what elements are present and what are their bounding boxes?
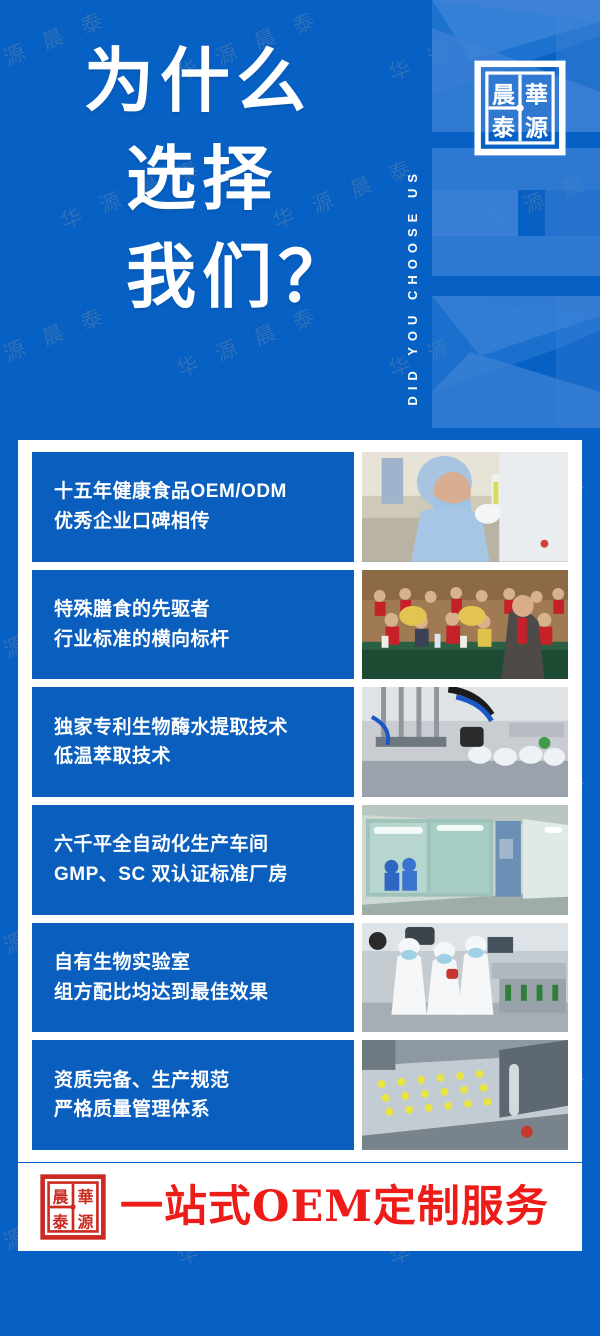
feature-line: 特殊膳食的先驱者 xyxy=(54,595,332,624)
feature-line: 资质完备、生产规范 xyxy=(54,1066,332,1095)
feature-card-6[interactable]: 资质完备、生产规范 严格质量管理体系 xyxy=(32,1040,354,1150)
features-list: 十五年健康食品OEM/ODM 优秀企业口碑相传 xyxy=(32,452,568,1150)
seal-char-3: 泰 xyxy=(491,115,516,142)
seal-stamp-icon: 晨 華 泰 源 xyxy=(40,1174,106,1240)
seal-char-3: 泰 xyxy=(52,1212,69,1231)
feature-line: 独家专利生物酶水提取技术 xyxy=(54,713,332,742)
feature-row: 特殊膳食的先驱者 行业标准的横向标杆 xyxy=(32,570,568,680)
feature-row: 自有生物实验室 组方配比均达到最佳效果 xyxy=(32,923,568,1033)
feature-line: 组方配比均达到最佳效果 xyxy=(54,978,332,1007)
title-line-3: 我们？ xyxy=(126,242,354,312)
feature-row: 资质完备、生产规范 严格质量管理体系 xyxy=(32,1040,568,1150)
title-line-2: 选择 xyxy=(126,144,354,214)
vertical-tagline-text: DID YOU CHOOSE US xyxy=(405,168,420,406)
photo-conference-audience xyxy=(362,570,568,680)
photo-lab-technician-testing xyxy=(362,452,568,562)
watermark-text: 华 源 晨 泰 xyxy=(596,594,600,679)
header-seal-icon: 晨 華 泰 源 xyxy=(474,58,566,158)
seal-char-2: 華 xyxy=(525,81,548,108)
feature-line: 自有生物实验室 xyxy=(54,948,332,977)
footer-slogan: 一站式OEM定制服务 xyxy=(120,1186,549,1229)
feature-row: 独家专利生物酶水提取技术 低温萃取技术 xyxy=(32,687,568,797)
seal-char-4: 源 xyxy=(525,115,548,142)
feature-card-2[interactable]: 特殊膳食的先驱者 行业标准的横向标杆 xyxy=(32,570,354,680)
feature-line: GMP、SC 双认证标准厂房 xyxy=(54,860,332,889)
footer-banner: 晨 華 泰 源 一站式OEM定制服务 xyxy=(18,1163,582,1251)
feature-card-5[interactable]: 自有生物实验室 组方配比均达到最佳效果 xyxy=(32,923,354,1033)
feature-card-4[interactable]: 六千平全自动化生产车间 GMP、SC 双认证标准厂房 xyxy=(32,805,354,915)
feature-line: 优秀企业口碑相传 xyxy=(54,507,332,536)
feature-line: 严格质量管理体系 xyxy=(54,1095,332,1124)
photo-staff-production-line xyxy=(362,923,568,1033)
features-panel: 十五年健康食品OEM/ODM 优秀企业口碑相传 xyxy=(18,440,582,1162)
title-line-1: 为什么 xyxy=(84,46,354,116)
seal-char-2: 華 xyxy=(78,1187,94,1206)
seal-char-1: 晨 xyxy=(53,1187,69,1206)
header: 为什么 选择 我们？ DID YOU CHOOSE US 晨 華 泰 源 xyxy=(0,0,600,440)
photo-cleanroom-corridor xyxy=(362,805,568,915)
photo-tablet-blister-packing xyxy=(362,1040,568,1150)
feature-card-3[interactable]: 独家专利生物酶水提取技术 低温萃取技术 xyxy=(32,687,354,797)
footer-seal-icon: 晨 華 泰 源 xyxy=(40,1174,106,1240)
seal-stamp-icon: 晨 華 泰 源 xyxy=(474,58,566,158)
page-title: 为什么 选择 我们？ xyxy=(84,46,354,312)
feature-row: 六千平全自动化生产车间 GMP、SC 双认证标准厂房 xyxy=(32,805,568,915)
feature-card-1[interactable]: 十五年健康食品OEM/ODM 优秀企业口碑相传 xyxy=(32,452,354,562)
feature-line: 行业标准的横向标杆 xyxy=(54,625,332,654)
feature-line: 低温萃取技术 xyxy=(54,742,332,771)
photo-filling-machinery xyxy=(362,687,568,797)
seal-char-4: 源 xyxy=(78,1212,94,1231)
watermark-text: 华 源 晨 泰 xyxy=(596,890,600,975)
seal-char-1: 晨 xyxy=(492,81,516,108)
feature-line: 六千平全自动化生产车间 xyxy=(54,830,332,859)
feature-row: 十五年健康食品OEM/ODM 优秀企业口碑相传 xyxy=(32,452,568,562)
vertical-tagline: DID YOU CHOOSE US xyxy=(399,16,425,406)
watermark-text: 华 源 晨 泰 xyxy=(596,1186,600,1271)
feature-line: 十五年健康食品OEM/ODM xyxy=(54,477,332,506)
